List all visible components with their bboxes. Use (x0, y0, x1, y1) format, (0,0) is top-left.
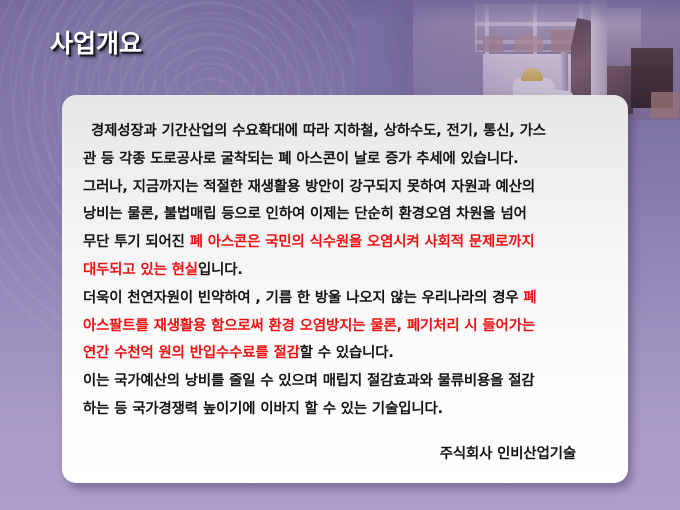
body-line: 낭비는 물론, 불법매립 등으로 인하여 이제는 단순히 환경오염 차원을 넘어 (83, 201, 608, 229)
body-line: 그러나, 지금까지는 적절한 재생활용 방안이 강구되지 못하여 자원과 예산의 (83, 174, 608, 202)
body-text: 그러나, 지금까지는 적절한 재생활용 방안이 강구되지 못하여 자원과 예산의 (83, 179, 535, 195)
body-line: 이는 국가예산의 낭비를 줄일 수 있으며 매립지 절감효과와 물류비용을 절감 (83, 368, 608, 396)
body-text: 무단 투기 되어진 (83, 234, 190, 250)
body-text: 관 등 각종 도로공사로 굴착되는 폐 아스콘이 날로 증가 추세에 있습니다. (83, 151, 519, 167)
body-line: 더욱이 천연자원이 빈약하여 , 기름 한 방울 나오지 않는 우리나라의 경우… (83, 285, 608, 313)
body-line: 무단 투기 되어진 폐 아스콘은 국민의 식수원을 오염시켜 사회적 문제로까지 (83, 229, 608, 257)
body-text: 경제성장과 기간산업의 수요확대에 따라 지하철, 상하수도, 전기, 통신, … (91, 123, 546, 139)
body-line: 경제성장과 기간산업의 수요확대에 따라 지하철, 상하수도, 전기, 통신, … (83, 118, 608, 146)
page-title: 사업개요 (50, 24, 142, 60)
body-text: 더욱이 천연자원이 빈약하여 , 기름 한 방울 나오지 않는 우리나라의 경우 (83, 290, 523, 306)
highlighted-text: 아스팔트를 재생활용 함으로써 환경 오염방지는 물론, 폐기처리 시 들어가는 (83, 318, 535, 334)
body-text: 이는 국가예산의 낭비를 줄일 수 있으며 매립지 절감효과와 물류비용을 절감 (83, 373, 535, 389)
body-line: 관 등 각종 도로공사로 굴착되는 폐 아스콘이 날로 증가 추세에 있습니다. (83, 146, 608, 174)
company-signature: 주식회사 인비산업기술 (83, 441, 608, 469)
presentation-slide: 사업개요 경제성장과 기간산업의 수요확대에 따라 지하철, 상하수도, 전기,… (0, 0, 680, 510)
content-card-body: 경제성장과 기간산업의 수요확대에 따라 지하철, 상하수도, 전기, 통신, … (62, 95, 628, 469)
highlighted-text: 연간 수천억 원의 반입수수료를 절감 (83, 345, 300, 361)
body-line: 아스팔트를 재생활용 함으로써 환경 오염방지는 물론, 폐기처리 시 들어가는 (83, 313, 608, 341)
highlighted-text: 대두되고 있는 현실 (83, 262, 198, 278)
highlighted-text: 폐 (523, 290, 536, 306)
photo-top-fade (355, 0, 680, 24)
body-text: 하는 등 국가경쟁력 높이기에 이바지 할 수 있는 기술입니다. (83, 401, 443, 417)
body-text-block: 경제성장과 기간산업의 수요확대에 따라 지하철, 상하수도, 전기, 통신, … (83, 118, 608, 424)
body-line: 연간 수천억 원의 반입수수료를 절감할 수 있습니다. (83, 340, 608, 368)
body-line: 대두되고 있는 현실입니다. (83, 257, 608, 285)
body-text: 할 수 있습니다. (300, 345, 394, 361)
highlighted-text: 폐 아스콘은 국민의 식수원을 오염시켜 사회적 문제로까지 (190, 234, 535, 250)
body-line: 하는 등 국가경쟁력 높이기에 이바지 할 수 있는 기술입니다. (83, 396, 608, 424)
body-text: 입니다. (198, 262, 243, 278)
content-card: 경제성장과 기간산업의 수요확대에 따라 지하철, 상하수도, 전기, 통신, … (62, 95, 628, 483)
body-text: 낭비는 물론, 불법매립 등으로 인하여 이제는 단순히 환경오염 차원을 넘어 (83, 206, 527, 222)
